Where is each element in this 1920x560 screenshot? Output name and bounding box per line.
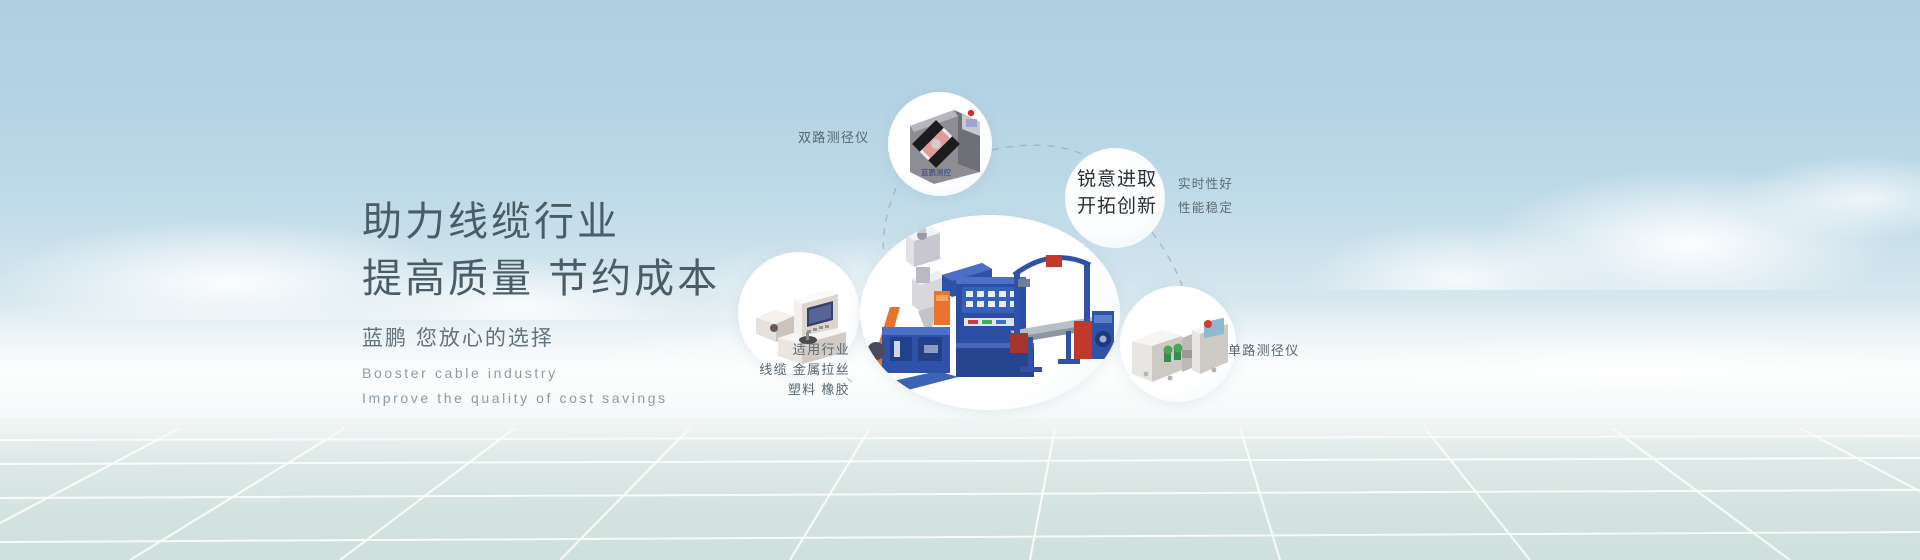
headline-line-1: 助力线缆行业 [362,194,720,251]
headline-text-block: 助力线缆行业 提高质量 节约成本 蓝鹏 您放心的选择 Booster cable… [362,194,720,406]
slogan-line-1: 锐意进取 [1072,167,1162,194]
extrusion-line-icon [860,215,1120,410]
single-gauge-device-icon [1120,286,1236,402]
product-bubble-extrusion-line[interactable] [860,215,1120,410]
product-bubble-dual-gauge[interactable]: 蓝鹏测控 [888,92,992,196]
hero-banner: 助力线缆行业 提高质量 节约成本 蓝鹏 您放心的选择 Booster cable… [0,0,1920,560]
product-collage: 蓝鹏测控 双路测径仪 [700,0,1920,560]
label-industry-line-1: 线缆 金属拉丝 [730,360,850,380]
label-industry-title: 适用行业 [730,340,850,360]
headline-line-2: 提高质量 节约成本 [362,251,720,308]
subtitle-chinese: 蓝鹏 您放心的选择 [362,322,720,352]
subtitle-english-2: Improve the quality of cost savings [362,390,720,406]
label-industry: 适用行业 线缆 金属拉丝 塑料 橡胶 [730,340,850,400]
label-performance: 实时性好 性能稳定 [1178,173,1233,221]
label-single-gauge: 单路测径仪 [1228,341,1300,361]
slogan-line-2: 开拓创新 [1072,194,1162,221]
dual-gauge-device-icon: 蓝鹏测控 [888,92,992,196]
label-performance-line-2: 性能稳定 [1178,197,1233,221]
subtitle-english-1: Booster cable industry [362,365,720,381]
product-bubble-single-gauge[interactable] [1120,286,1236,402]
label-performance-line-1: 实时性好 [1178,173,1233,197]
label-industry-line-2: 塑料 橡胶 [730,380,850,400]
device-brand-mark: 蓝鹏测控 [921,167,951,177]
label-dual-gauge: 双路测径仪 [798,128,870,148]
slogan-text: 锐意进取 开拓创新 [1072,167,1162,221]
